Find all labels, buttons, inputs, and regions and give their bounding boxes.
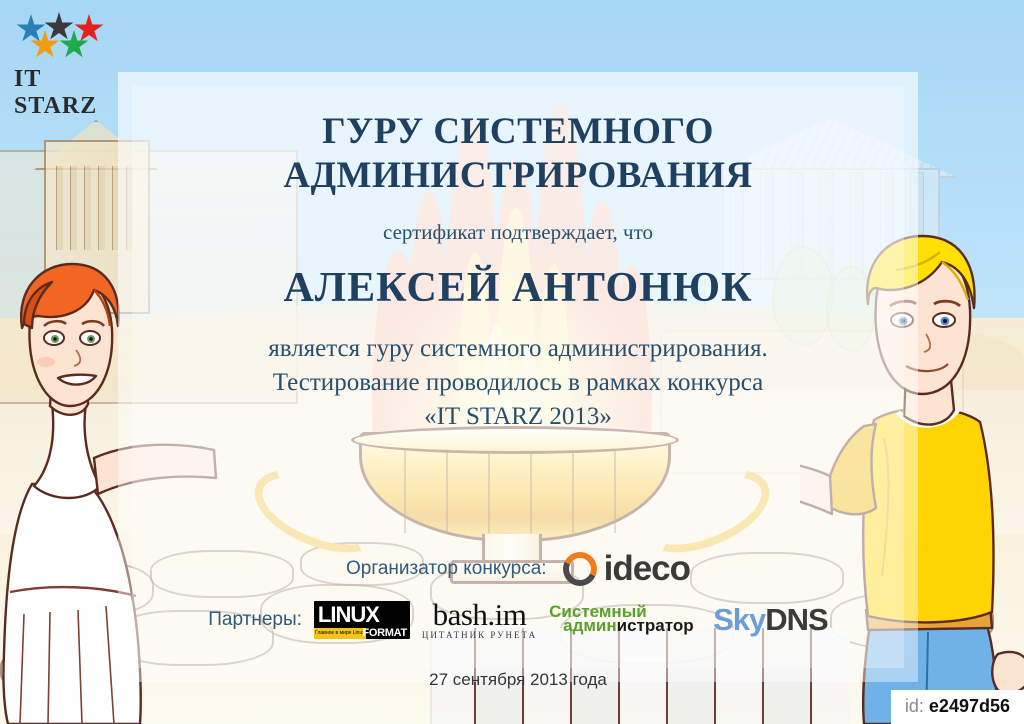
bash-tagline: ЦИТАТНИК РУНЕТА (422, 631, 537, 640)
organizer-row: Организатор конкурса: ideco (118, 549, 918, 589)
certificate-subtitle: сертификат подтверждает, что (118, 220, 918, 245)
recipient-name: АЛЕКСЕЙ АНТОНЮК (118, 264, 918, 312)
sysadmin-line-2: администратор (563, 616, 694, 636)
skydns-dark-part: DNS (765, 602, 827, 637)
body-line-3: «IT STARZ 2013» (118, 400, 918, 434)
star-icon (16, 14, 46, 44)
it-starz-logo: IT STARZ (14, 12, 124, 94)
certificate-id-badge: id: e2497d56 (891, 690, 1024, 724)
stars-mark (14, 12, 114, 62)
format-wordmark: FORMAT (362, 627, 406, 639)
sysadmin-dark-part: истратор (617, 616, 694, 635)
partners-label: Партнеры: (208, 609, 302, 631)
certificate-body: является гуру системного администрирован… (118, 332, 918, 434)
certificate-canvas: IT STARZ ГУРУ СИСТЕМНОГО АДМИНИСТРИРОВАН… (0, 0, 1024, 724)
partner-logo-sysadmin: Системный администратор (549, 603, 701, 637)
logo-wordmark: IT STARZ (14, 66, 124, 120)
certificate-title: ГУРУ СИСТЕМНОГО АДМИНИСТРИРОВАНИЯ (118, 110, 918, 198)
body-line-2: Тестирование проводилось в рамках конкур… (118, 366, 918, 400)
partner-logo-bash-im: bash.im ЦИТАТНИК РУНЕТА (422, 599, 537, 640)
ideco-wordmark: ideco (604, 549, 690, 589)
skydns-light-part: Sky (713, 602, 765, 637)
title-line-2: АДМИНИСТРИРОВАНИЯ (118, 154, 918, 198)
bash-wordmark: bash.im (433, 599, 527, 630)
sysadmin-green-part: админ (563, 616, 617, 635)
partner-logo-skydns: SkyDNS (713, 602, 828, 638)
star-icon (74, 14, 104, 44)
linux-wordmark: LINUX (318, 602, 379, 628)
id-value: e2497d56 (929, 696, 1010, 716)
linux-tagline-strip: Главное в мире Linux (314, 628, 366, 639)
ideco-logo: ideco (563, 549, 690, 589)
ideco-ring-icon (563, 552, 597, 586)
partners-row: Партнеры: LINUX Главное в мире Linux FOR… (118, 599, 918, 640)
organizer-label: Организатор конкурса: (346, 558, 547, 580)
star-icon (44, 12, 74, 42)
linux-tagline: Главное в мире Linux (314, 628, 366, 639)
body-line-1: является гуру системного администрирован… (118, 332, 918, 366)
certificate-date: 27 сентября 2013 года (118, 670, 918, 690)
certificate-content: ГУРУ СИСТЕМНОГО АДМИНИСТРИРОВАНИЯ сертиф… (118, 72, 918, 682)
id-label: id: (905, 696, 924, 716)
partner-logo-linux-format: LINUX Главное в мире Linux FORMAT (314, 601, 410, 639)
title-line-1: ГУРУ СИСТЕМНОГО (118, 110, 918, 154)
